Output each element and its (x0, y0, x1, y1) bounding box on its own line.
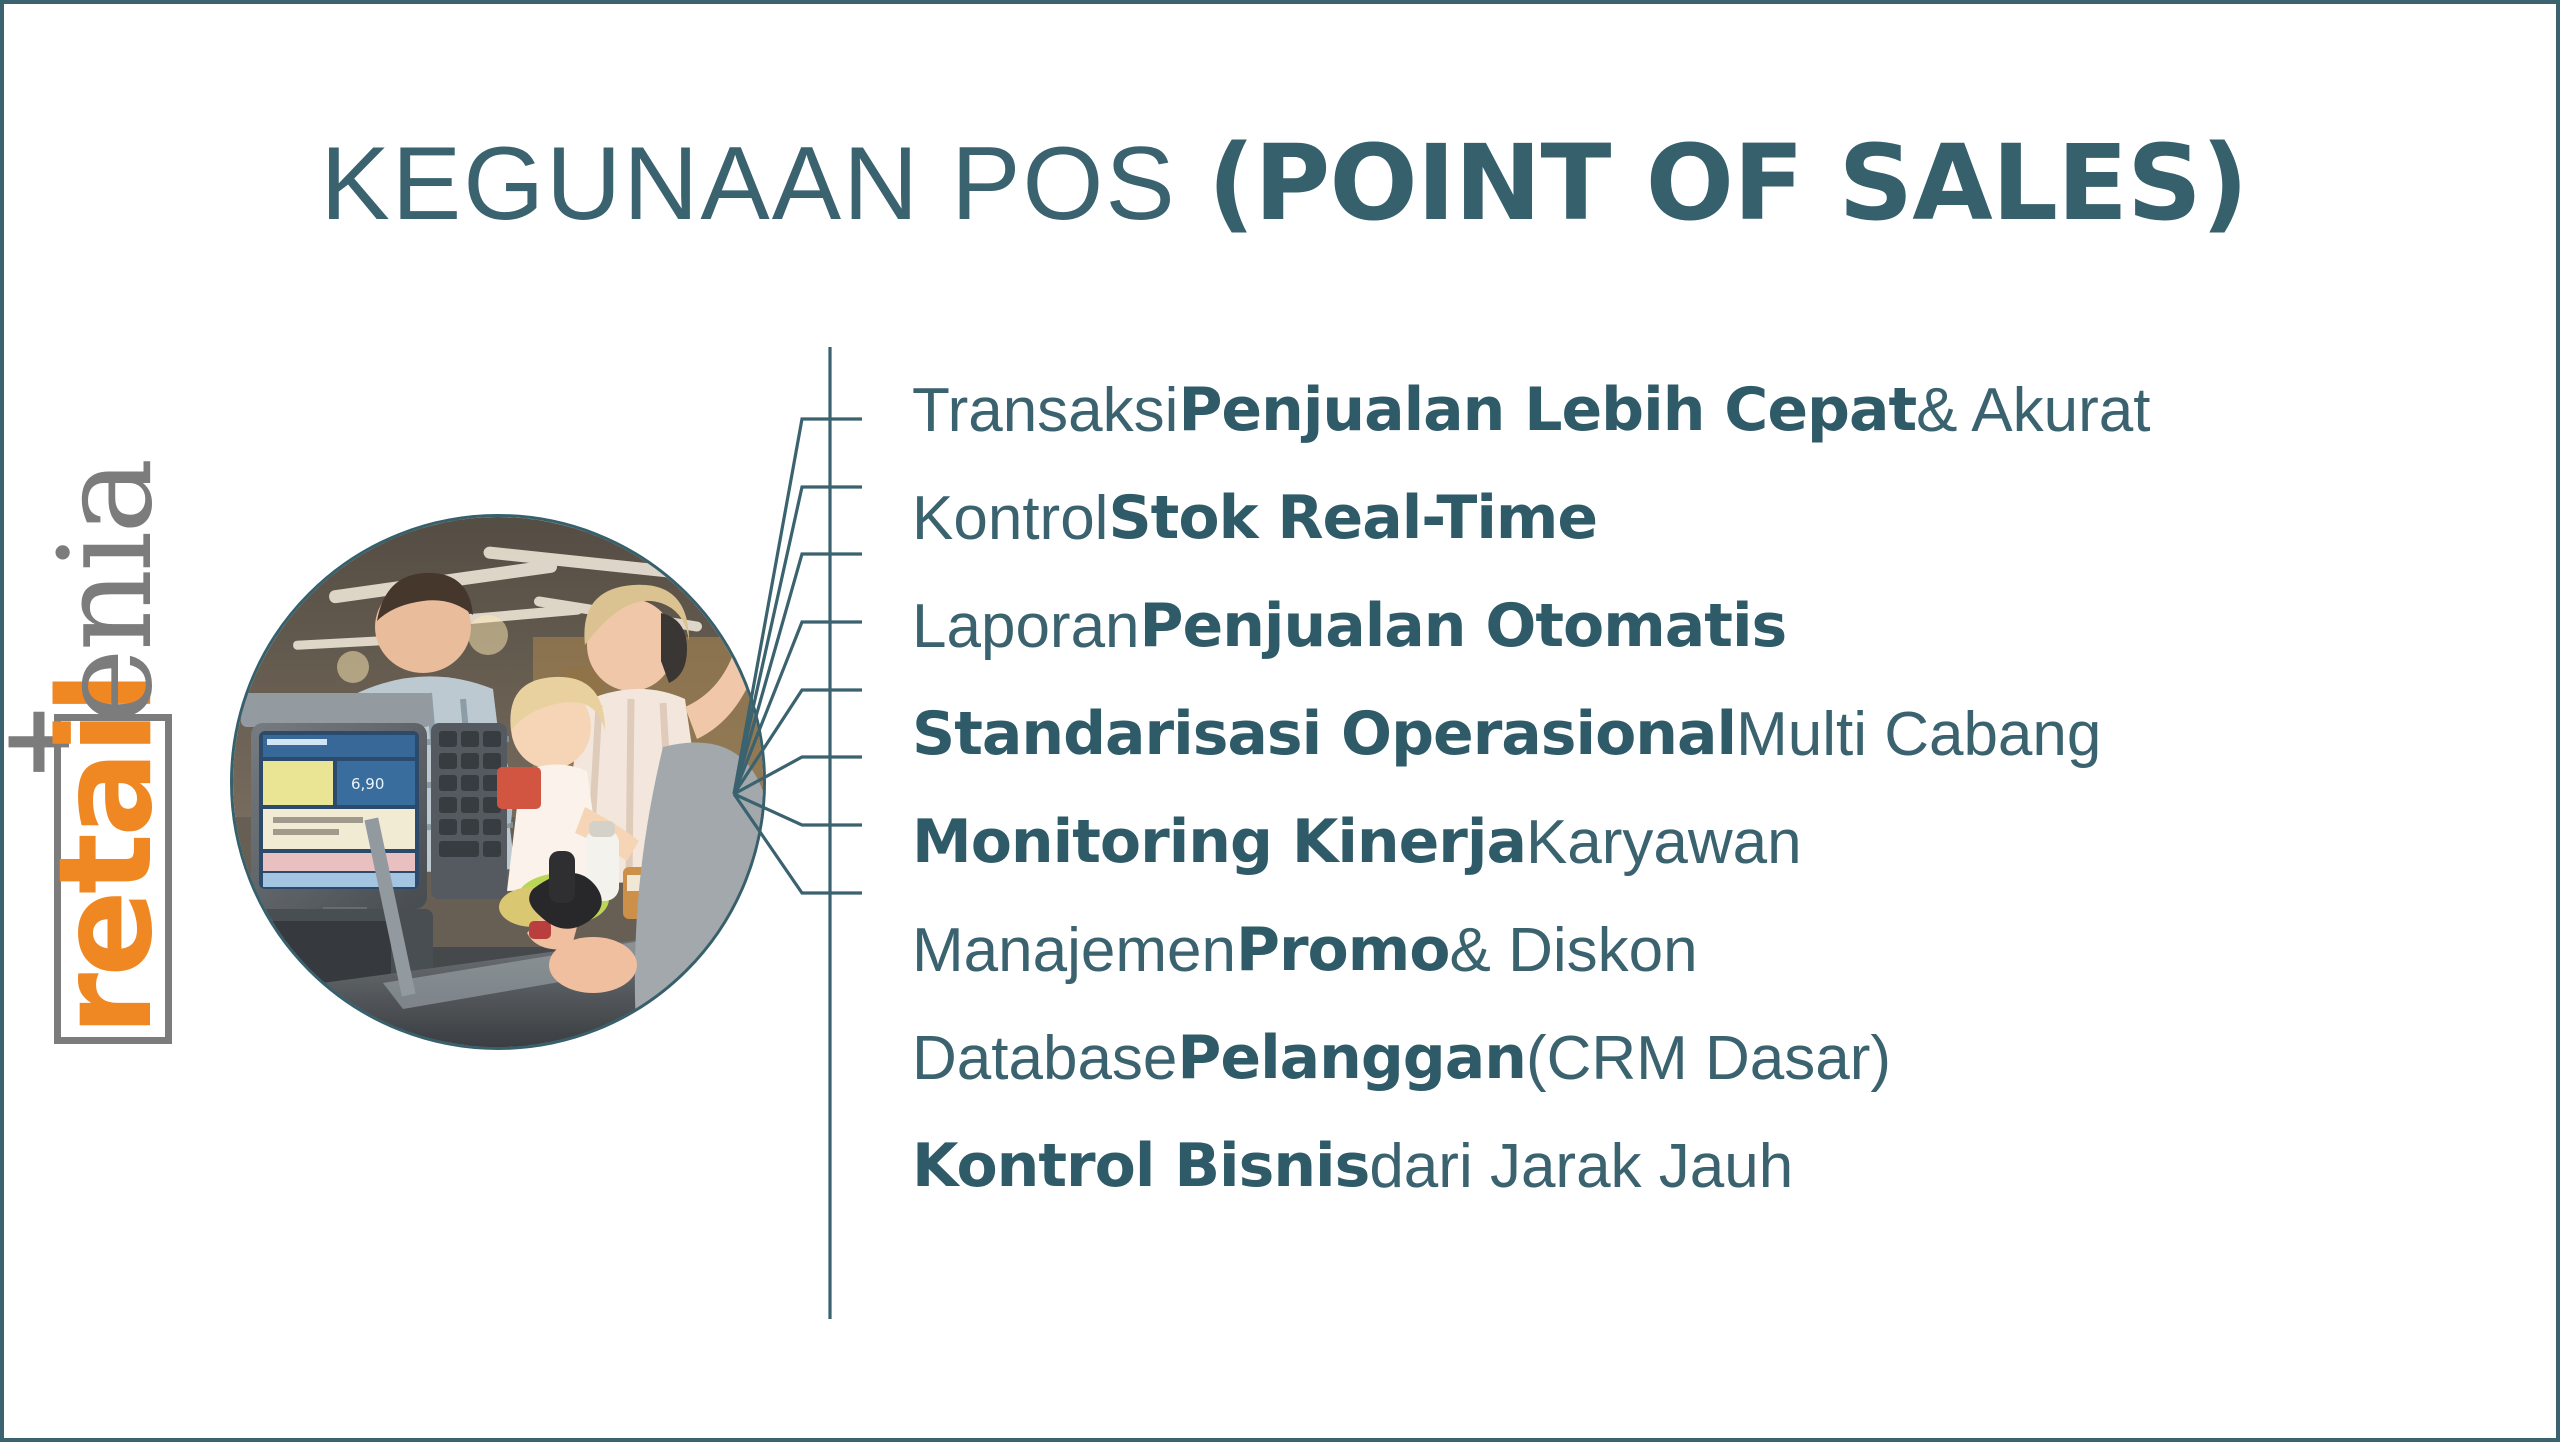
list-item-prefix: Laporan (912, 591, 1140, 662)
list-item-prefix: Transaksi (912, 375, 1178, 446)
logo-inner: + retail enia (26, 404, 196, 1044)
list-item: Kontrol Bisnis dari Jarak Jauh (912, 1112, 2512, 1220)
list-item-strong: Penjualan Otomatis (1140, 591, 1787, 661)
list-item-strong: Pelanggan (1177, 1023, 1526, 1093)
list-item-prefix: Manajemen (912, 915, 1236, 986)
list-item-prefix: Database (912, 1023, 1177, 1094)
list-item-suffix: Multi Cabang (1736, 699, 2101, 770)
list-item-strong: Promo (1236, 915, 1450, 985)
list-item: Laporan Penjualan Otomatis (912, 572, 2512, 680)
logo-rotation-wrapper: + retail enia (26, 404, 196, 1044)
list-item-suffix: & Akurat (1916, 375, 2150, 446)
list-item-strong: Kontrol Bisnis (912, 1131, 1369, 1201)
list-item-strong: Stok Real-Time (1108, 483, 1597, 553)
connector-lines (704, 334, 924, 1334)
list-item-suffix: Karyawan (1526, 807, 1802, 878)
list-item-suffix: & Diskon (1450, 915, 1698, 986)
connector-diagram (704, 334, 924, 1334)
list-item-strong: Standarisasi Operasional (912, 699, 1736, 769)
logo-word-enia: enia (48, 461, 166, 724)
title-light-part: KEGUNAAN POS (321, 126, 1208, 242)
list-item-strong: Monitoring Kinerja (912, 807, 1526, 877)
list-item: Kontrol Stok Real-Time (912, 464, 2512, 572)
page-title: KEGUNAAN POS (POINT OF SALES) (4, 122, 2560, 244)
list-item-strong: Penjualan Lebih Cepat (1178, 375, 1916, 445)
checkout-photo: 6,90 (230, 514, 766, 1050)
slide-canvas: KEGUNAAN POS (POINT OF SALES) + retail e… (0, 0, 2560, 1442)
benefits-list: Transaksi Penjualan Lebih Cepat & Akurat… (912, 356, 2512, 1220)
list-item-suffix: (CRM Dasar) (1526, 1023, 1891, 1094)
brand-logo: + retail enia (26, 404, 196, 1044)
list-item: Manajemen Promo & Diskon (912, 896, 2512, 1004)
list-item: Database Pelanggan (CRM Dasar) (912, 1004, 2512, 1112)
list-item: Transaksi Penjualan Lebih Cepat & Akurat (912, 356, 2512, 464)
logo-word-retail: retail (48, 675, 166, 1036)
checkout-photo-illustration: 6,90 (233, 517, 763, 1047)
list-item-suffix: dari Jarak Jauh (1369, 1131, 1793, 1202)
title-bold-part: (POINT OF SALES) (1208, 122, 2248, 244)
list-item: Standarisasi Operasional Multi Cabang (912, 680, 2512, 788)
list-item: Monitoring Kinerja Karyawan (912, 788, 2512, 896)
list-item-prefix: Kontrol (912, 483, 1108, 554)
